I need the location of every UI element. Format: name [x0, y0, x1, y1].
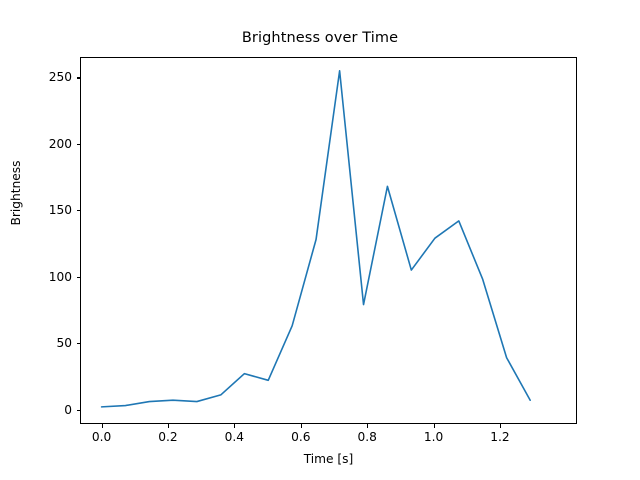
- x-tick-label: 0.2: [158, 430, 177, 444]
- chart-title: Brightness over Time: [0, 30, 640, 46]
- y-tick-label: 50: [56, 336, 72, 350]
- x-tick-label: 0.6: [291, 430, 310, 444]
- x-tick-mark: [234, 424, 235, 428]
- y-tick-label: 200: [49, 137, 72, 151]
- brightness-line-series: [102, 71, 531, 407]
- y-tick-mark: [77, 144, 81, 145]
- x-tick-mark: [301, 424, 302, 428]
- x-tick-mark: [434, 424, 435, 428]
- x-tick-label: 1.2: [490, 430, 509, 444]
- x-tick-mark: [102, 424, 103, 428]
- x-tick-label: 0.0: [92, 430, 111, 444]
- x-tick-label: 0.4: [225, 430, 244, 444]
- y-tick-mark: [77, 210, 81, 211]
- x-axis-tick-labels: 0.00.20.40.60.81.01.2: [80, 430, 577, 448]
- x-tick-mark: [367, 424, 368, 428]
- y-tick-label: 150: [49, 203, 72, 217]
- y-tick-mark: [77, 277, 81, 278]
- y-tick-label: 100: [49, 270, 72, 284]
- x-axis-label: Time [s]: [80, 452, 577, 466]
- x-tick-label: 0.8: [357, 430, 376, 444]
- y-axis-label: Brightness: [9, 113, 23, 273]
- y-axis-tick-labels: 050100150200250: [28, 57, 72, 424]
- y-tick-mark: [77, 77, 81, 78]
- y-tick-mark: [77, 410, 81, 411]
- x-tick-mark: [500, 424, 501, 428]
- plot-area: [80, 57, 577, 424]
- x-tick-label: 1.0: [424, 430, 443, 444]
- chart-figure: Brightness over Time 050100150200250 0.0…: [0, 0, 640, 480]
- x-tick-mark: [168, 424, 169, 428]
- y-tick-label: 250: [49, 70, 72, 84]
- y-tick-label: 0: [64, 403, 72, 417]
- y-tick-mark: [77, 343, 81, 344]
- line-series-svg: [80, 57, 577, 424]
